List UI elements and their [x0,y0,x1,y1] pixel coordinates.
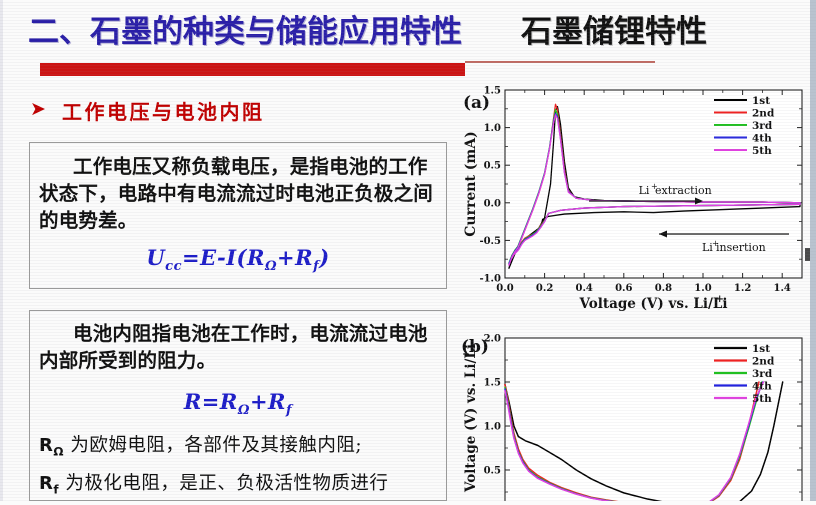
cv-curve-chart: (a)0.00.20.40.60.81.01.21.4-1.0-0.50.00.… [459,82,809,312]
working-voltage-formula: Ucc=E-I(RΩ+Rf) [30,245,446,274]
x-tick-label-a: 1.2 [734,283,751,294]
right-edge-strip [810,0,816,501]
x-tick-label-a: 0.8 [655,283,672,294]
formula-r-f-sub: f [286,403,292,418]
legend-label-b-5th: 5th [752,393,772,405]
working-voltage-paragraph: 工作电压又称负载电压，是指电池的工作状态下，电路中有电流流过时电池正负极之间的电… [39,153,437,234]
y-tick-label-a: -0.5 [479,236,501,247]
formula-u: U [146,245,165,270]
formula-mid: +R [277,245,313,270]
charge-discharge-chart: (b)0.51.01.52.0Voltage (V) vs. Li/Li+1st… [459,326,809,501]
y-axis-label-sup-b: + [461,350,472,358]
insertion-label-rest: insertion [716,241,766,254]
x-axis-label-text-a: Voltage (V) vs. Li/Li [578,296,727,312]
y-tick-label-a: 0.5 [484,161,501,172]
y-tick-label-b: 1.5 [484,378,501,389]
x-axis-label-sup-a: + [716,294,724,305]
internal-resistance-textbox: 电池内阻指电池在工作时，电流流过电池内部所受到的阻力。 R=RΩ+Rf RΩ 为… [29,310,447,501]
slide-header: 二、石墨的种类与储能应用特性 石墨储锂特性 [0,4,816,52]
polarization-resistance-line: Rf 为极化电阻，是正、负极活性物质进行 [30,468,446,505]
legend-label-b-3rd: 3rd [752,368,773,380]
formula-r-mid: +R [250,389,286,414]
header-rule-thin [465,61,655,63]
extraction-label-li: Li [639,184,650,197]
formula-omega-sub: Ω [265,259,277,274]
y-axis-label-text-b: Voltage (V) vs. Li/Li [463,344,479,493]
legend-label-1st: 1st [752,95,770,107]
left-edge-strip [0,0,3,501]
formula-r-omega-sub: Ω [238,403,250,418]
legend-label-2nd: 2nd [752,108,775,120]
y-tick-label-a: 0.0 [484,198,501,209]
y-tick-label-b: 1.0 [484,422,501,433]
page-subtitle: 石墨储锂特性 [521,6,707,51]
x-tick-label-a: 0.2 [536,283,553,294]
formula-rest: =E-I(R [182,245,265,270]
section-bullet-label: 工作电压与电池内阻 [62,96,265,125]
x-tick-label-a: 0.4 [575,283,592,294]
x-axis-label-a: Voltage (V) vs. Li/Li+ [578,294,727,312]
formula-end: ) [319,245,329,270]
x-tick-label-a: 0.6 [615,283,632,294]
legend-label-3rd: 3rd [752,120,773,132]
legend-label-4th: 4th [752,133,772,145]
r-omega-subscript: Ω [53,445,64,459]
y-tick-label-b: 0.5 [484,466,501,477]
y-tick-label-b: 2.0 [484,334,501,345]
y-tick-label-a: -1.0 [479,274,501,285]
legend-label-b-1st: 1st [752,343,770,355]
section-bullet: ➤ 工作电压与电池内阻 [30,96,430,126]
arrow-bullet-icon: ➤ [30,100,46,119]
r-f-text: 为极化电阻，是正、负极活性物质进行 [59,473,388,494]
r-omega-text: 为欧姆电阻，各部件及其接触内阻; [64,435,362,456]
legend-label-b-4th: 4th [752,381,772,393]
y-axis-label-b: Voltage (V) vs. Li/Li+ [461,344,479,493]
internal-resistance-formula: R=RΩ+Rf [30,389,446,418]
x-tick-label-a: 1.4 [773,283,790,294]
extraction-label-rest: extraction [655,184,712,197]
working-voltage-textbox: 工作电压又称负载电压，是指电池的工作状态下，电路中有电流流过时电池正负极之间的电… [29,142,447,289]
header-rule-thick [40,63,465,76]
x-tick-label-a: 0.0 [496,283,513,294]
y-tick-label-a: 1.5 [484,86,501,97]
r-omega-symbol: R [39,435,53,456]
r-f-symbol: R [39,473,53,494]
page-title: 二、石墨的种类与储能应用特性 [28,6,462,51]
y-axis-label-a: Current (mA) [463,131,479,236]
formula-u-sub: cc [165,259,182,274]
formula-r: R=R [184,389,238,414]
internal-resistance-paragraph: 电池内阻指电池在工作时，电流流过电池内部所受到的阻力。 [39,320,437,374]
legend-label-b-2nd: 2nd [752,356,775,368]
y-tick-label-a: 1.0 [484,123,501,134]
ohmic-resistance-line: RΩ 为欧姆电阻，各部件及其接触内阻; [30,430,446,468]
x-tick-label-a: 1.0 [694,283,711,294]
legend-label-5th: 5th [752,145,772,157]
slide-canvas: 二、石墨的种类与储能应用特性 石墨储锂特性 ➤ 工作电压与电池内阻 工作电压又称… [0,0,816,501]
